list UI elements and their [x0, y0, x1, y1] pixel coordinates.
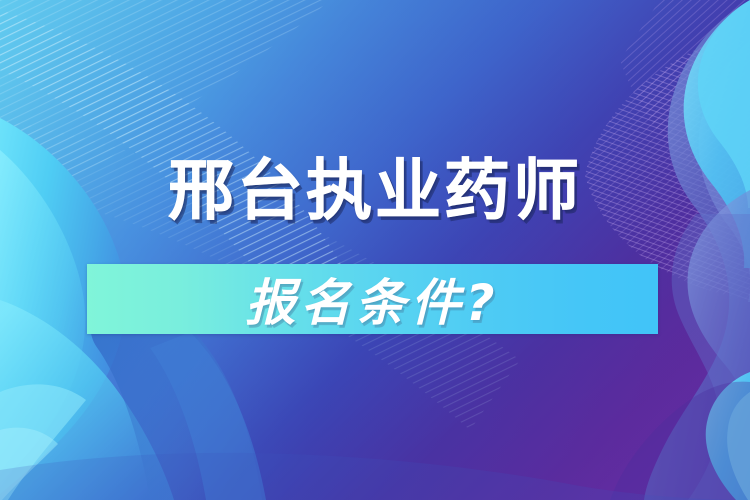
- background-artwork: [0, 0, 750, 500]
- promo-poster: 邢台执业药师 报名条件?: [0, 0, 750, 500]
- poster-subtitle: 报名条件?: [87, 264, 658, 334]
